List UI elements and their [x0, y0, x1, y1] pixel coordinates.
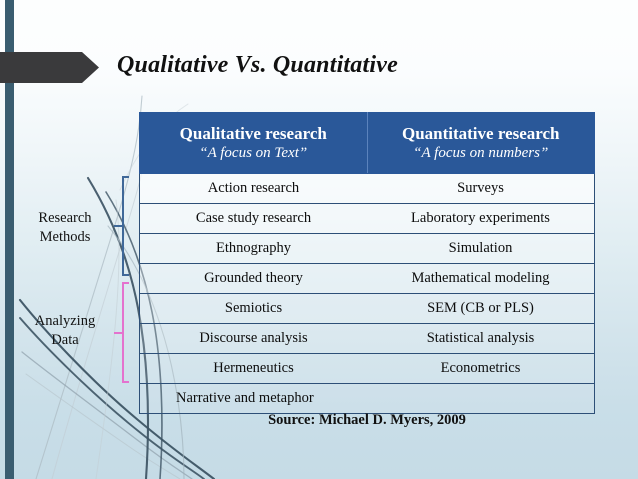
table-row: Grounded theory Mathematical modeling: [140, 264, 595, 294]
cell-qualitative: Discourse analysis: [140, 324, 368, 354]
bracket-research-arm-bottom: [122, 274, 129, 276]
cell-qualitative: Ethnography: [140, 234, 368, 264]
group-label-analyzing-line2: Data: [22, 331, 108, 350]
cell-qualitative: Case study research: [140, 204, 368, 234]
column-header-quantitative-title: Quantitative research: [368, 124, 595, 143]
bracket-research-methods: [112, 176, 128, 276]
table-row: Ethnography Simulation: [140, 234, 595, 264]
column-header-qualitative-title: Qualitative research: [140, 124, 367, 143]
column-header-qualitative: Qualitative research “A focus on Text”: [140, 113, 368, 174]
group-label-analyzing-line1: Analyzing: [22, 312, 108, 331]
bracket-analyzing-arm-bottom: [122, 381, 129, 383]
table-row: Discourse analysis Statistical analysis: [140, 324, 595, 354]
cell-qualitative: Semiotics: [140, 294, 368, 324]
cell-quantitative: Surveys: [367, 174, 595, 204]
cell-qualitative: Narrative and metaphor: [140, 384, 595, 414]
table-row: Hermeneutics Econometrics: [140, 354, 595, 384]
column-header-qualitative-subtitle: “A focus on Text”: [140, 144, 367, 162]
slide-canvas: Qualitative Vs. Quantitative Research Me…: [0, 0, 638, 479]
bracket-research-tick: [114, 225, 123, 227]
cell-quantitative: Statistical analysis: [367, 324, 595, 354]
table-row: Narrative and metaphor: [140, 384, 595, 414]
cell-qualitative: Action research: [140, 174, 368, 204]
page-title: Qualitative Vs. Quantitative: [117, 52, 597, 79]
column-header-quantitative-subtitle: “A focus on numbers”: [368, 144, 595, 162]
table-row: Action research Surveys: [140, 174, 595, 204]
table-header: Qualitative research “A focus on Text” Q…: [140, 113, 595, 174]
column-header-quantitative: Quantitative research “A focus on number…: [367, 113, 595, 174]
table-body: Action research Surveys Case study resea…: [140, 174, 595, 414]
bracket-analyzing-data: [112, 282, 128, 383]
table-row: Case study research Laboratory experimen…: [140, 204, 595, 234]
cell-qualitative: Grounded theory: [140, 264, 368, 294]
cell-quantitative: Mathematical modeling: [367, 264, 595, 294]
group-label-research-methods: Research Methods: [22, 209, 108, 246]
cell-qualitative: Hermeneutics: [140, 354, 368, 384]
group-label-research-line2: Methods: [22, 228, 108, 247]
bracket-analyzing-arm-top: [122, 282, 129, 284]
table-row: Semiotics SEM (CB or PLS): [140, 294, 595, 324]
bracket-analyzing-tick: [114, 332, 123, 334]
cell-quantitative: SEM (CB or PLS): [367, 294, 595, 324]
group-label-analyzing-data: Analyzing Data: [22, 312, 108, 349]
source-citation: Source: Michael D. Myers, 2009: [139, 412, 595, 429]
bracket-research-arm-top: [122, 176, 129, 178]
cell-quantitative: Simulation: [367, 234, 595, 264]
arrow-banner-shape: [0, 52, 99, 83]
cell-quantitative: Econometrics: [367, 354, 595, 384]
table-header-row: Qualitative research “A focus on Text” Q…: [140, 113, 595, 174]
comparison-table: Qualitative research “A focus on Text” Q…: [139, 112, 595, 414]
cell-quantitative: Laboratory experiments: [367, 204, 595, 234]
group-label-research-line1: Research: [22, 209, 108, 228]
